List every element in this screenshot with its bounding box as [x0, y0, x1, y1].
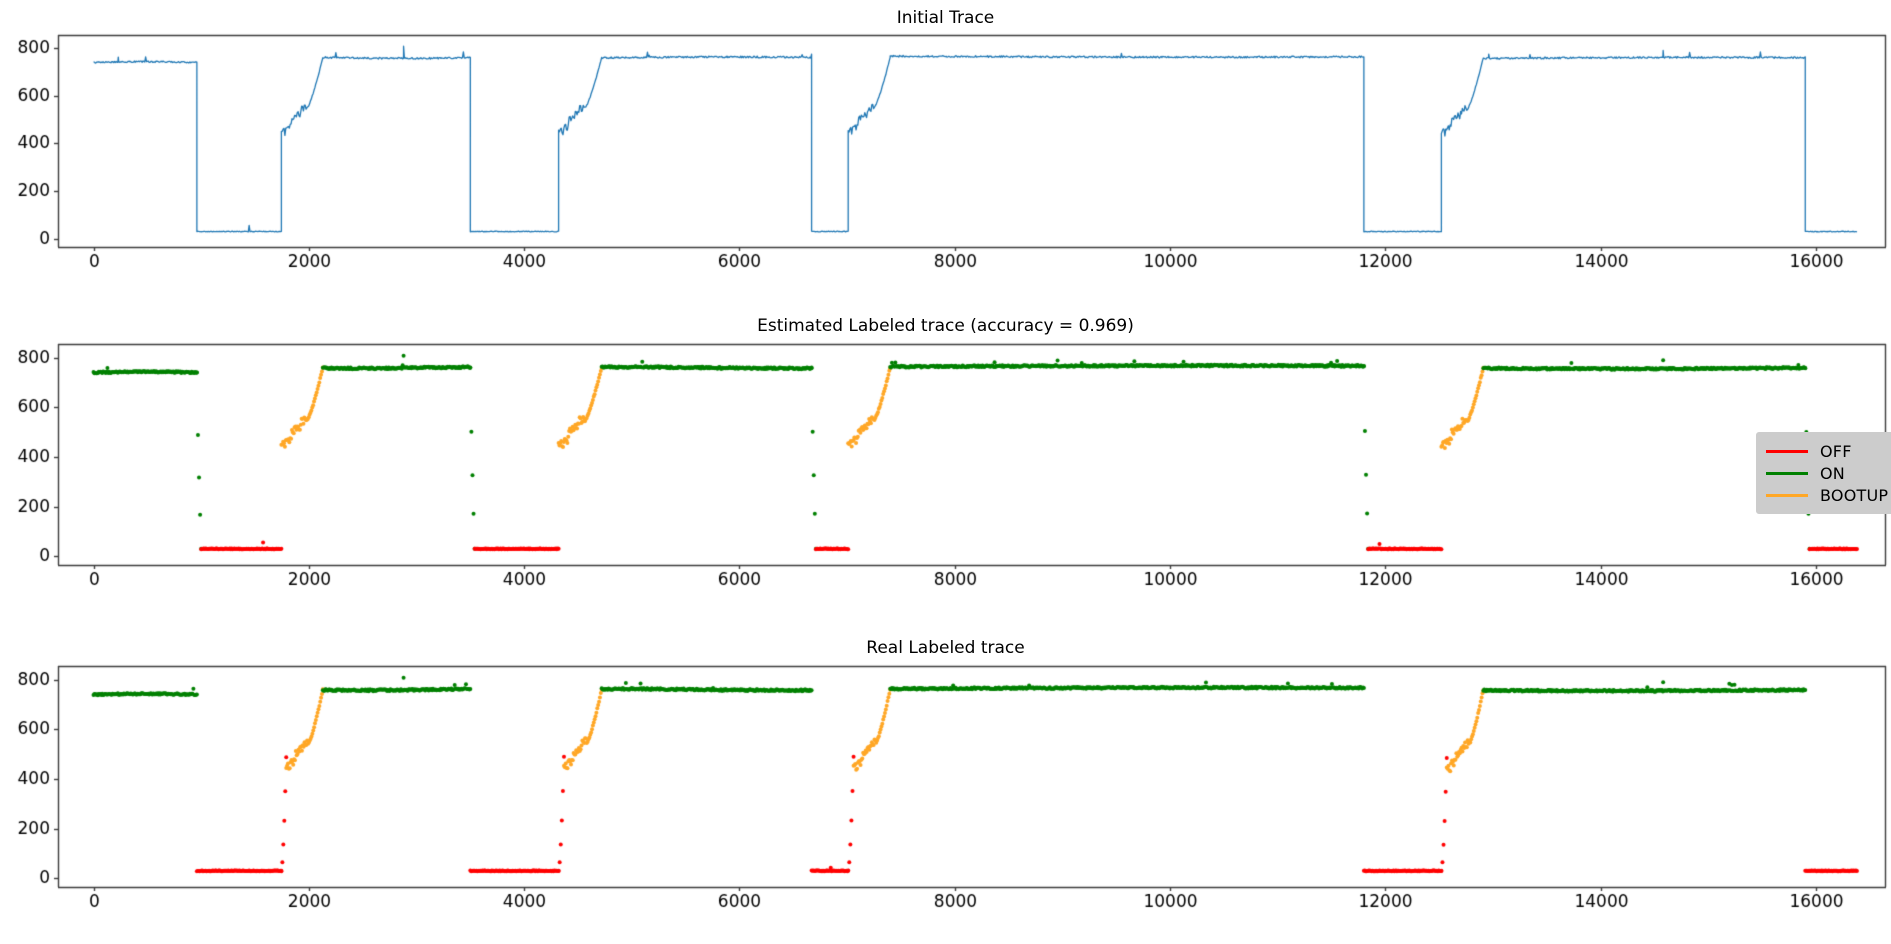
axes-real-labeled-trace — [0, 622, 1891, 944]
legend: OFF ON BOOTUP — [1756, 432, 1891, 514]
subplot-real-labeled-trace: Real Labeled trace — [0, 622, 1891, 944]
legend-entry-on: ON — [1766, 462, 1891, 484]
legend-label-bootup: BOOTUP — [1820, 486, 1888, 505]
legend-swatch-bootup-icon — [1766, 494, 1808, 497]
subplot-initial-trace: Initial Trace — [0, 0, 1891, 300]
legend-entry-off: OFF — [1766, 440, 1891, 462]
legend-entry-bootup: BOOTUP — [1766, 484, 1891, 506]
legend-swatch-on-icon — [1766, 472, 1808, 475]
legend-label-on: ON — [1820, 464, 1845, 483]
matplotlib-figure: Initial Trace Estimated Labeled trace (a… — [0, 0, 1891, 944]
axes-estimated-labeled-trace — [0, 300, 1891, 622]
legend-label-off: OFF — [1820, 442, 1852, 461]
legend-swatch-off-icon — [1766, 450, 1808, 453]
subplot-estimated-labeled-trace: Estimated Labeled trace (accuracy = 0.96… — [0, 300, 1891, 622]
axes-initial-trace — [0, 0, 1891, 300]
